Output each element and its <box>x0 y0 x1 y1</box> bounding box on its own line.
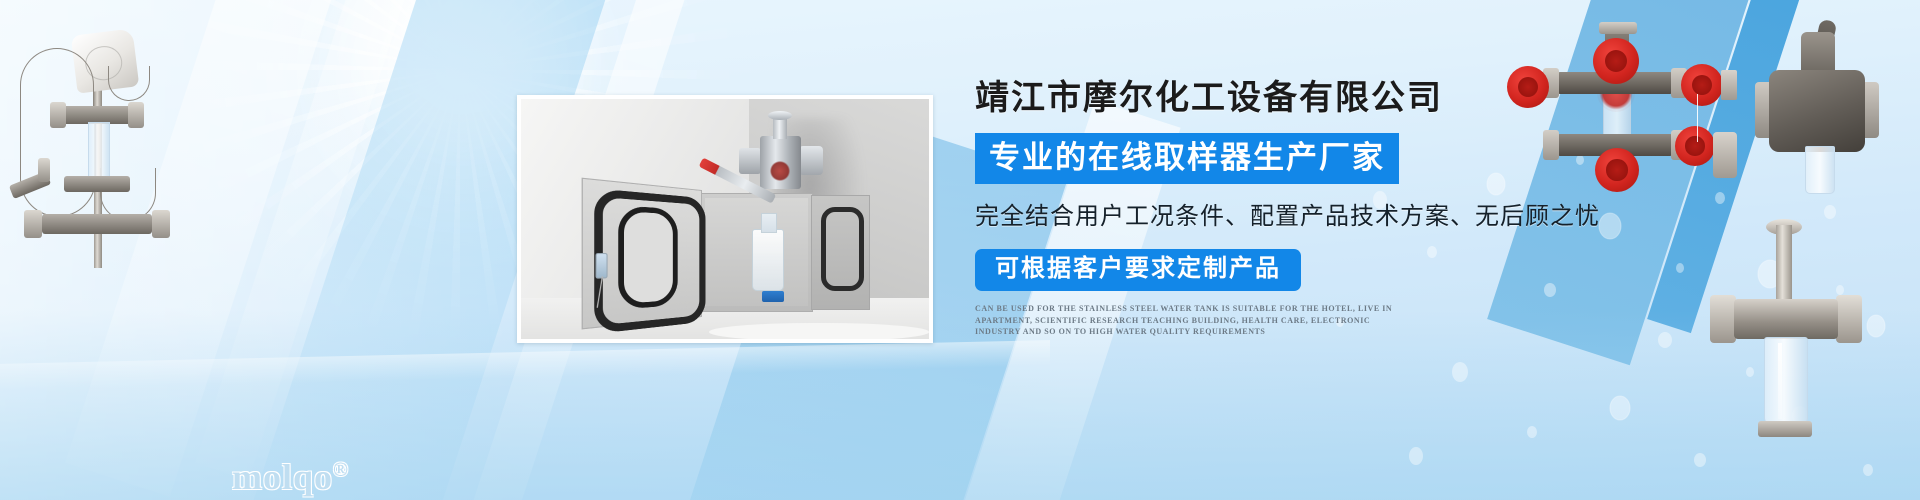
flange-upper-right <box>128 102 144 128</box>
valve-flange-right <box>799 146 823 175</box>
flange-lower-left <box>24 210 42 238</box>
subline-text: 完全结合用户工况条件、配置产品技术方案、无后顾之忧 <box>975 202 1675 232</box>
copy-block: 靖江市摩尔化工设备有限公司 专业的在线取样器生产厂家 完全结合用户工况条件、配置… <box>975 78 1675 338</box>
door-window <box>618 205 678 310</box>
sampler-glass-tube <box>1764 337 1808 425</box>
valve-body-mid <box>64 176 130 192</box>
product-photo <box>517 95 933 343</box>
english-caption: CAN BE USED FOR THE STAINLESS STEEL WATE… <box>975 303 1393 338</box>
flange-upper-left <box>50 102 66 128</box>
sampler-flange-left <box>1710 295 1736 343</box>
gear-sight-glass <box>1805 146 1835 194</box>
relief-valve-stem <box>38 158 50 182</box>
sight-glass <box>88 122 110 180</box>
right-bottom-product-render <box>1700 225 1880 450</box>
right-mid-product-render <box>1755 24 1885 194</box>
watermark-text: molqo <box>232 457 333 497</box>
sampler-flange-right <box>1836 295 1862 343</box>
custom-product-pill: 可根据客户要求定制产品 <box>975 249 1301 291</box>
sampler-base <box>1758 421 1812 437</box>
valve-knob <box>768 111 792 121</box>
registered-trademark-icon: ® <box>333 459 349 481</box>
promo-banner: 靖江市摩尔化工设备有限公司 专业的在线取样器生产厂家 完全结合用户工况条件、配置… <box>0 0 1920 500</box>
headline-banner: 专业的在线取样器生产厂家 <box>975 133 1399 184</box>
gear-valve-body <box>1769 70 1865 152</box>
bottle-cap <box>762 291 784 302</box>
valve-brand-seal <box>770 161 790 180</box>
cabinet-door <box>582 178 703 330</box>
watermark-logo: molqo® <box>232 452 349 495</box>
sampler-column <box>1776 225 1792 303</box>
sample-bottle <box>752 229 785 291</box>
product-photo-image <box>521 99 929 339</box>
cabinet-side-seal <box>821 207 864 291</box>
company-name: 靖江市摩尔化工设备有限公司 <box>975 78 1675 120</box>
left-product-render <box>2 18 182 268</box>
sampler-body <box>1734 299 1838 339</box>
flange-lower-right <box>152 210 170 238</box>
cross-flange-top <box>1599 22 1637 34</box>
valve-body-lower <box>42 214 152 234</box>
tubing-arc-right <box>108 66 150 101</box>
valve-flange-left <box>739 148 761 174</box>
